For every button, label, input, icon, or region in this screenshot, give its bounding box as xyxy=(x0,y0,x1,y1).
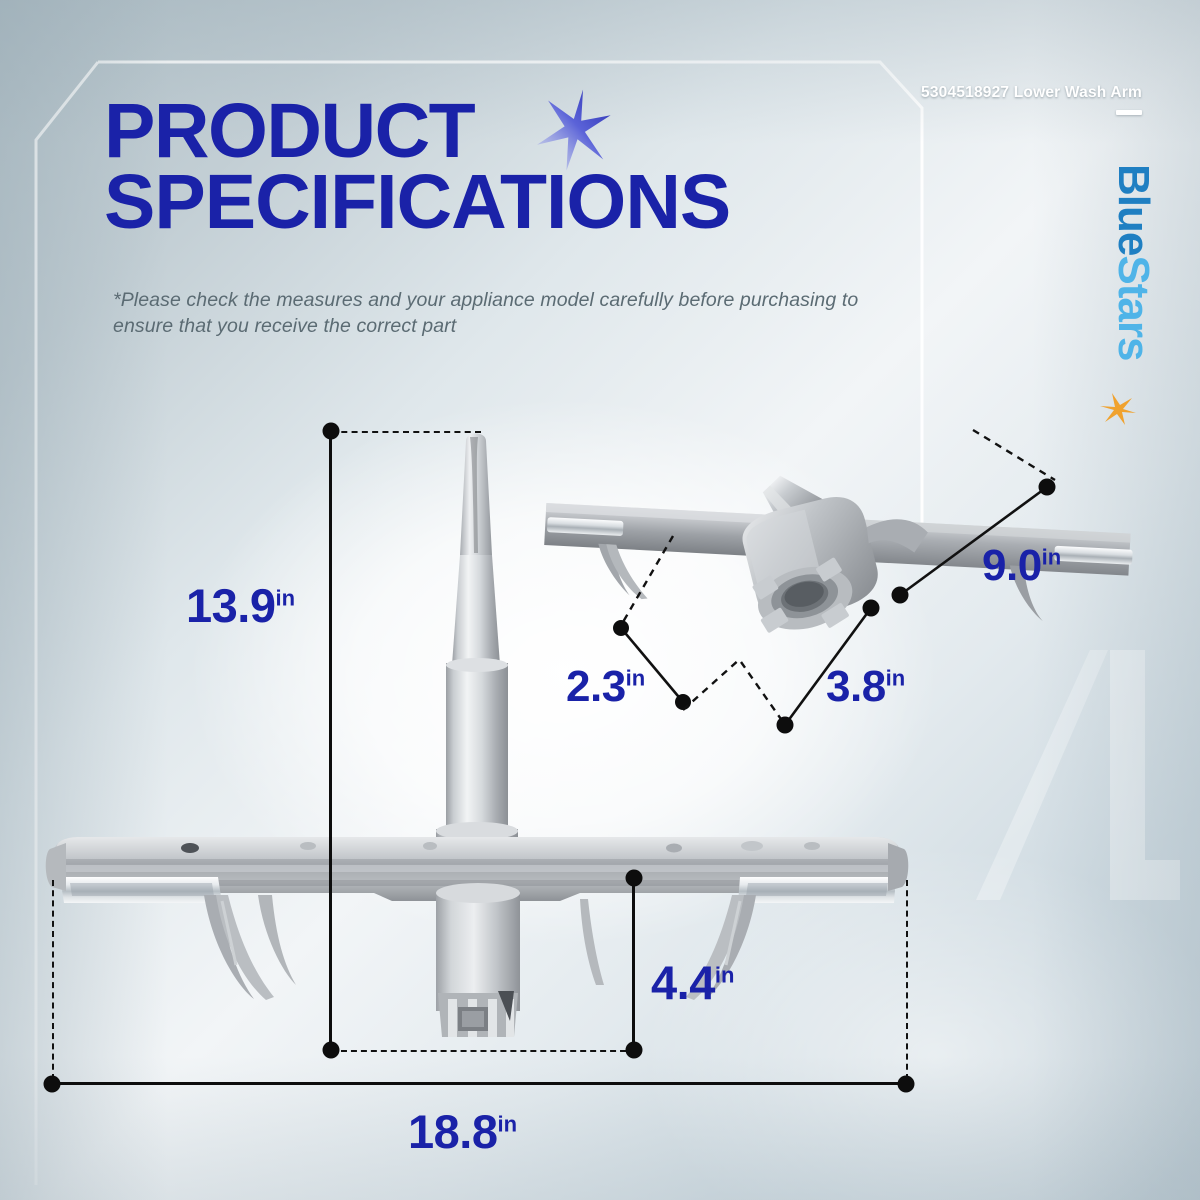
dimension-dot-height-top xyxy=(323,423,340,440)
dimension-dot-width-right xyxy=(898,1076,915,1093)
dimension-value-23: 2.3 xyxy=(566,662,626,711)
dimension-unit-44: in xyxy=(715,962,735,987)
dimension-label-diag-long: 9.0in xyxy=(982,541,1061,591)
dimension-label-diag-mid: 3.8in xyxy=(826,662,905,712)
dimension-value-188: 18.8 xyxy=(408,1105,497,1158)
star-icon xyxy=(526,84,618,176)
dimension-label-height: 13.9in xyxy=(186,578,295,633)
dimension-dot-height-bottom xyxy=(323,1042,340,1059)
page-title: PRODUCT SPECIFICATIONS xyxy=(104,96,894,238)
disclaimer-text: *Please check the measures and your appl… xyxy=(113,288,873,339)
dimension-dot-depth-top xyxy=(626,870,643,887)
dimension-extension-height-bottom xyxy=(331,1050,636,1052)
dimension-label-diag-short: 2.3in xyxy=(566,662,645,712)
brand-name-part2: Stars xyxy=(1109,255,1158,360)
dimension-unit-23: in xyxy=(626,665,646,690)
dimension-unit-139: in xyxy=(275,585,295,610)
specification-sheet: 5304518927 Lower Wash Arm PRODUCT SPECIF… xyxy=(0,0,1200,1200)
dimension-extension-width-left xyxy=(52,880,54,1080)
dimension-extension-height-top xyxy=(331,431,481,433)
part-number-underline xyxy=(1116,110,1142,115)
dimension-value-9: 9.0 xyxy=(982,541,1042,590)
dimension-unit-188: in xyxy=(497,1111,517,1136)
dimension-value-139: 13.9 xyxy=(186,579,275,632)
dimension-value-38: 3.8 xyxy=(826,662,886,711)
dimension-line-height xyxy=(329,431,332,1051)
brand-name-part1: Blue xyxy=(1109,164,1158,255)
dimension-dot-depth-bottom xyxy=(626,1042,643,1059)
part-number-title: 5304518927 Lower Wash Arm xyxy=(921,84,1142,102)
product-main-view xyxy=(40,425,920,1050)
dimension-value-44: 4.4 xyxy=(651,956,715,1009)
dimension-dot-width-left xyxy=(44,1076,61,1093)
dimension-unit-38: in xyxy=(886,665,906,690)
dimension-label-width: 18.8in xyxy=(408,1104,517,1159)
dimension-extension-width-right xyxy=(906,880,908,1080)
dimension-line-depth xyxy=(632,878,635,1052)
dimension-line-width xyxy=(52,1082,908,1085)
dimension-unit-9: in xyxy=(1042,544,1062,569)
dimension-label-depth: 4.4in xyxy=(651,955,734,1010)
page-title-line2: SPECIFICATIONS xyxy=(104,167,894,238)
